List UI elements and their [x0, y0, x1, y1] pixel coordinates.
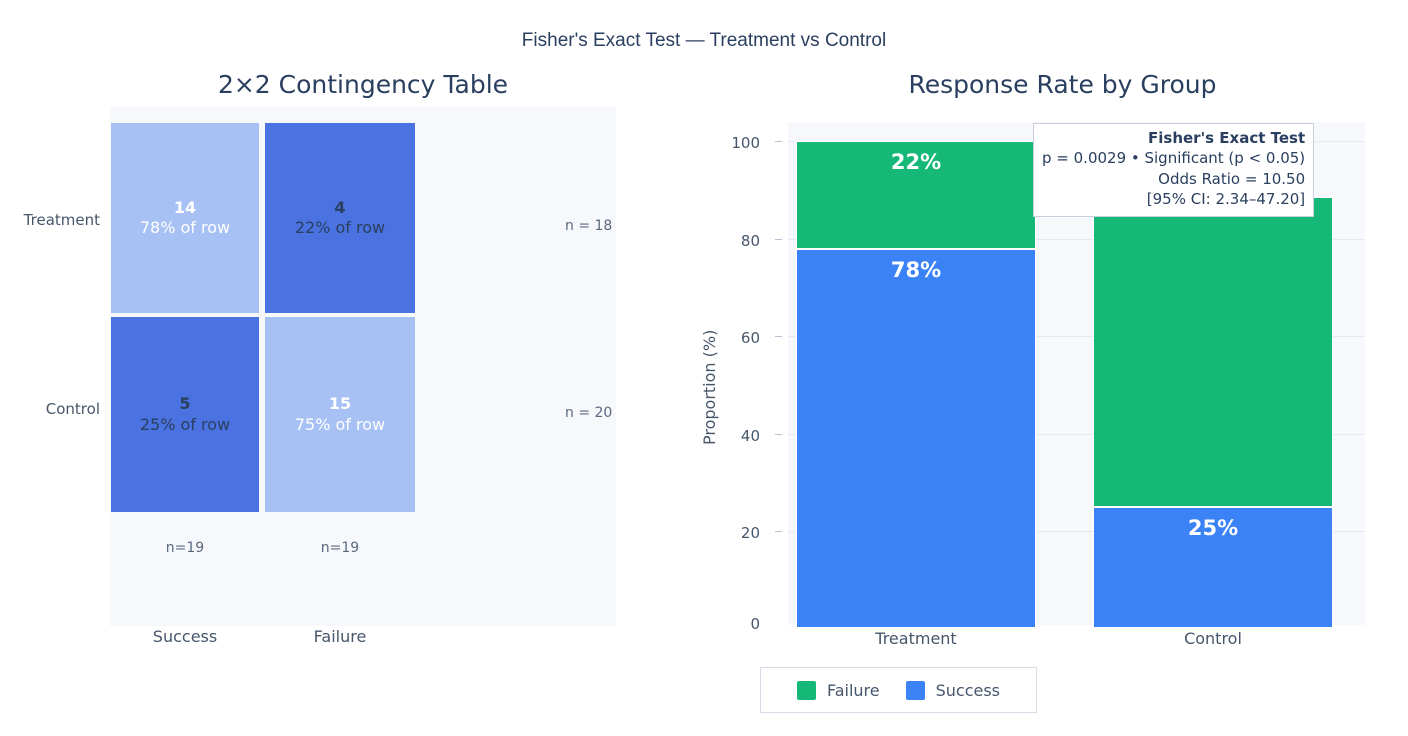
mosaic-column-label-failure: Failure — [265, 627, 415, 646]
figure-title: Fisher's Exact Test — Treatment vs Contr… — [0, 30, 1408, 52]
stats-header: Fisher's Exact Test — [1042, 128, 1305, 148]
mosaic-row-label-treatment: Treatment — [0, 211, 100, 229]
mosaic-cell-percent: 25% of row — [140, 415, 230, 435]
stats-odds-ratio: Odds Ratio = 10.50 — [1042, 169, 1305, 189]
mosaic-cell-percent: 22% of row — [295, 218, 385, 238]
mosaic-subplot-title: 2×2 Contingency Table — [110, 70, 616, 99]
stats-pvalue: p = 0.0029 • Significant (p < 0.05) — [1042, 148, 1305, 168]
legend-item-success[interactable]: Success — [906, 681, 1000, 700]
mosaic-row-total-treatment: n = 18 — [565, 218, 612, 234]
bar-segment-label: 78% — [891, 258, 941, 282]
legend-label-success: Success — [936, 681, 1000, 700]
mosaic-cell-count: 14 — [174, 198, 196, 218]
y-tick-label-0: 0 — [714, 615, 760, 633]
legend-swatch-failure — [797, 681, 816, 700]
bar-segment-treatment-failure[interactable]: 22% — [796, 141, 1036, 249]
mosaic-cell-control-success[interactable]: 5 25% of row — [111, 317, 259, 512]
y-tick-label-20: 20 — [714, 524, 760, 542]
y-tick-label-60: 60 — [714, 329, 760, 347]
y-tick-mark-40 — [775, 434, 782, 435]
mosaic-cell-treatment-success[interactable]: 14 78% of row — [111, 123, 259, 313]
mosaic-column-total-success: n=19 — [110, 540, 260, 556]
legend-item-failure[interactable]: Failure — [797, 681, 880, 700]
legend-label-failure: Failure — [827, 681, 880, 700]
y-tick-mark-60 — [775, 336, 782, 337]
x-tick-label-treatment: Treatment — [796, 629, 1036, 648]
bar-segment-label: 22% — [891, 150, 941, 174]
mosaic-cell-count: 4 — [334, 198, 345, 218]
figure-canvas: Fisher's Exact Test — Treatment vs Contr… — [0, 0, 1408, 736]
y-tick-mark-100 — [775, 141, 782, 142]
bar-segment-label: 25% — [1188, 516, 1238, 540]
y-tick-mark-80 — [775, 239, 782, 240]
bar-segment-control-failure[interactable] — [1093, 197, 1333, 507]
statistics-annotation: Fisher's Exact Test p = 0.0029 • Signifi… — [1033, 123, 1314, 217]
mosaic-plot-area: 14 78% of row 4 22% of row 5 25% of row … — [110, 106, 616, 626]
bar-subplot-title: Response Rate by Group — [760, 70, 1365, 99]
mosaic-column-total-failure: n=19 — [265, 540, 415, 556]
mosaic-cell-percent: 78% of row — [140, 218, 230, 238]
y-tick-label-40: 40 — [714, 427, 760, 445]
mosaic-cell-count: 5 — [179, 394, 190, 414]
mosaic-cell-count: 15 — [329, 394, 351, 414]
mosaic-row-total-control: n = 20 — [565, 405, 612, 421]
y-tick-mark-20 — [775, 531, 782, 532]
mosaic-cell-percent: 75% of row — [295, 415, 385, 435]
legend-swatch-success — [906, 681, 925, 700]
stats-confidence-interval: [95% CI: 2.34–47.20] — [1042, 189, 1305, 209]
mosaic-cell-control-failure[interactable]: 15 75% of row — [265, 317, 415, 512]
bar-segment-treatment-success[interactable]: 78% — [796, 249, 1036, 628]
y-tick-label-80: 80 — [714, 232, 760, 250]
mosaic-cell-treatment-failure[interactable]: 4 22% of row — [265, 123, 415, 313]
x-tick-label-control: Control — [1093, 629, 1333, 648]
bar-segment-control-success[interactable]: 25% — [1093, 507, 1333, 628]
mosaic-column-label-success: Success — [111, 627, 259, 646]
mosaic-row-label-control: Control — [0, 400, 100, 418]
chart-legend: Failure Success — [760, 667, 1037, 713]
y-tick-label-100: 100 — [714, 134, 760, 152]
